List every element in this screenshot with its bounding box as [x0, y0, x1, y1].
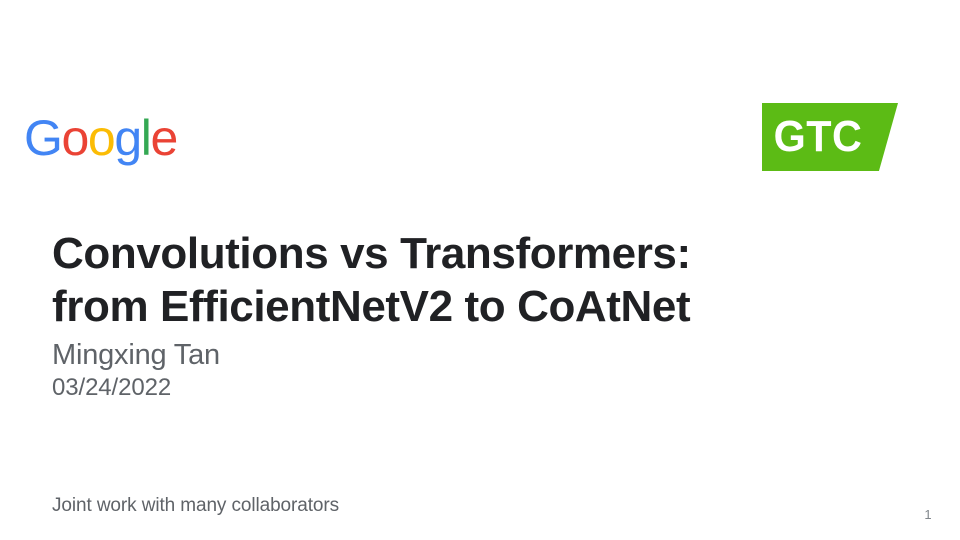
gtc-badge-label: GTC: [765, 103, 870, 171]
byline: Mingxing Tan 03/24/2022: [52, 337, 220, 403]
page-title: Convolutions vs Transformers: from Effic…: [52, 227, 852, 333]
page-number: 1: [916, 507, 940, 523]
gtc-logo: GTC: [762, 103, 898, 171]
page-title-line-2: from EfficientNetV2 to CoAtNet: [52, 280, 852, 333]
google-logo-letter-o2: o: [88, 113, 114, 163]
google-logo-letter-o1: o: [62, 113, 88, 163]
presentation-date: 03/24/2022: [52, 373, 220, 403]
slide-canvas: Google GTC Convolutions vs Transformers:…: [0, 0, 960, 540]
page-title-line-1: Convolutions vs Transformers:: [52, 227, 852, 280]
google-logo-letter-e: e: [150, 113, 176, 163]
author-name: Mingxing Tan: [52, 337, 220, 373]
google-logo-letter-g2: g: [114, 113, 140, 163]
google-logo-letter-l: l: [141, 113, 151, 163]
google-logo: Google: [24, 113, 177, 163]
google-logo-letter-g1: G: [24, 113, 62, 163]
footer-note: Joint work with many collaborators: [52, 494, 339, 518]
